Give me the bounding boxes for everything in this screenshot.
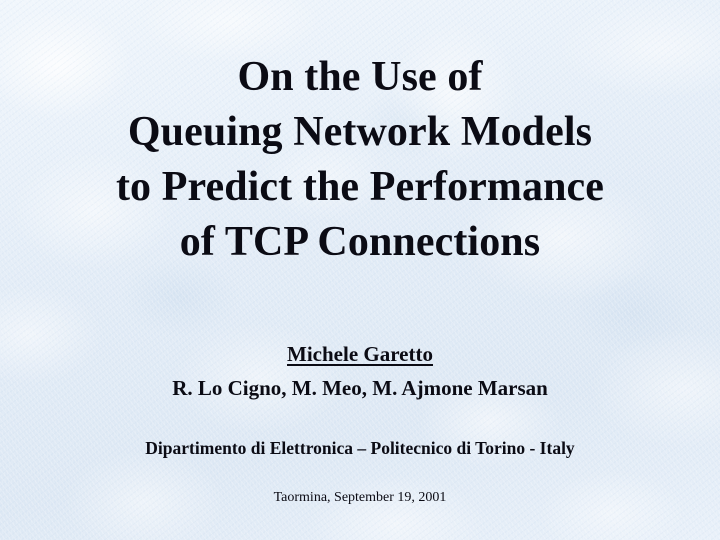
coauthor-names: R. Lo Cigno, M. Meo, M. Ajmone Marsan [0, 373, 720, 403]
presenter-name: Michele Garetto [0, 340, 720, 368]
title-line-1: On the Use of [0, 50, 720, 105]
slide-title: On the Use of Queuing Network Models to … [0, 50, 720, 270]
affiliation-line: Dipartimento di Elettronica – Politecnic… [0, 436, 720, 460]
title-line-4: of TCP Connections [0, 215, 720, 270]
slide-subtitle-block: Michele Garetto R. Lo Cigno, M. Meo, M. … [0, 340, 720, 508]
title-line-3: to Predict the Performance [0, 160, 720, 215]
event-date-line: Taormina, September 19, 2001 [0, 488, 720, 508]
title-line-2: Queuing Network Models [0, 105, 720, 160]
slide-canvas: On the Use of Queuing Network Models to … [0, 0, 720, 540]
slide-content: On the Use of Queuing Network Models to … [0, 0, 720, 540]
